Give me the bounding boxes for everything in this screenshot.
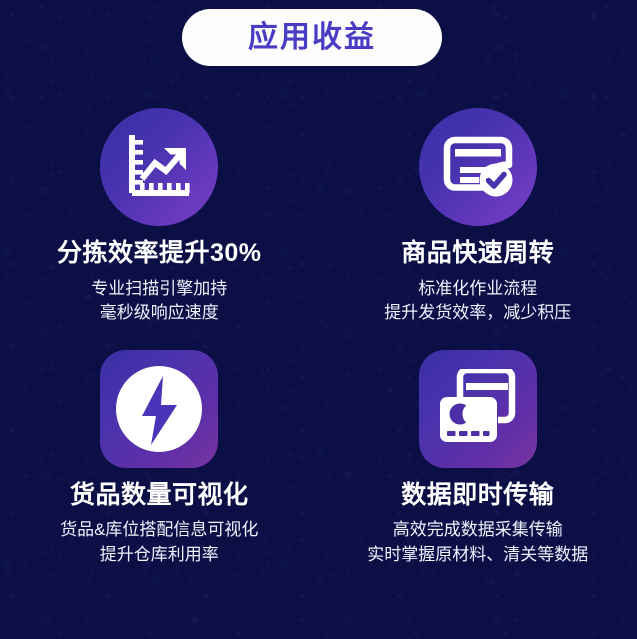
benefit-description: 标准化作业流程 提升发货效率，减少积压 bbox=[384, 277, 571, 326]
benefit-description: 高效完成数据采集传输 实时掌握原材料、清关等数据 bbox=[367, 518, 588, 567]
benefit-desc-line: 货品&库位搭配信息可视化 bbox=[60, 518, 258, 543]
benefit-desc-line: 实时掌握原材料、清关等数据 bbox=[367, 543, 588, 568]
benefit-card-fast-turnover: 商品快速周转 标准化作业流程 提升发货效率，减少积压 bbox=[319, 108, 637, 326]
bar-chart-growth-icon bbox=[100, 108, 218, 226]
benefit-desc-line: 提升发货效率，减少积压 bbox=[384, 301, 571, 326]
benefit-title: 商品快速周转 bbox=[401, 240, 554, 268]
benefit-desc-line: 专业扫描引擎加持 bbox=[91, 277, 227, 302]
two-cards-transfer-icon bbox=[419, 350, 537, 468]
benefit-title: 数据即时传输 bbox=[401, 482, 554, 510]
benefit-card-quantity-visualization: 货品数量可视化 货品&库位搭配信息可视化 提升仓库利用率 bbox=[0, 350, 319, 568]
benefit-title: 分拣效率提升30% bbox=[57, 240, 262, 268]
lightning-bolt-icon bbox=[100, 350, 218, 468]
benefit-card-realtime-transfer: 数据即时传输 高效完成数据采集传输 实时掌握原材料、清关等数据 bbox=[319, 350, 637, 568]
benefit-description: 货品&库位搭配信息可视化 提升仓库利用率 bbox=[60, 518, 258, 567]
card-check-icon bbox=[419, 108, 537, 226]
page-title-badge: 应用收益 bbox=[182, 9, 442, 66]
benefit-title: 货品数量可视化 bbox=[70, 482, 249, 510]
benefit-desc-line: 标准化作业流程 bbox=[384, 277, 571, 302]
benefit-card-sorting-efficiency: 分拣效率提升30% 专业扫描引擎加持 毫秒级响应速度 bbox=[0, 108, 319, 326]
benefit-desc-line: 高效完成数据采集传输 bbox=[367, 518, 588, 543]
promo-page: 应用收益 bbox=[0, 0, 637, 639]
benefit-desc-line: 提升仓库利用率 bbox=[60, 543, 258, 568]
benefits-grid: 分拣效率提升30% 专业扫描引擎加持 毫秒级响应速度 bbox=[0, 108, 637, 568]
page-title: 应用收益 bbox=[248, 23, 376, 53]
benefit-description: 专业扫描引擎加持 毫秒级响应速度 bbox=[91, 277, 227, 326]
benefit-desc-line: 毫秒级响应速度 bbox=[91, 301, 227, 326]
